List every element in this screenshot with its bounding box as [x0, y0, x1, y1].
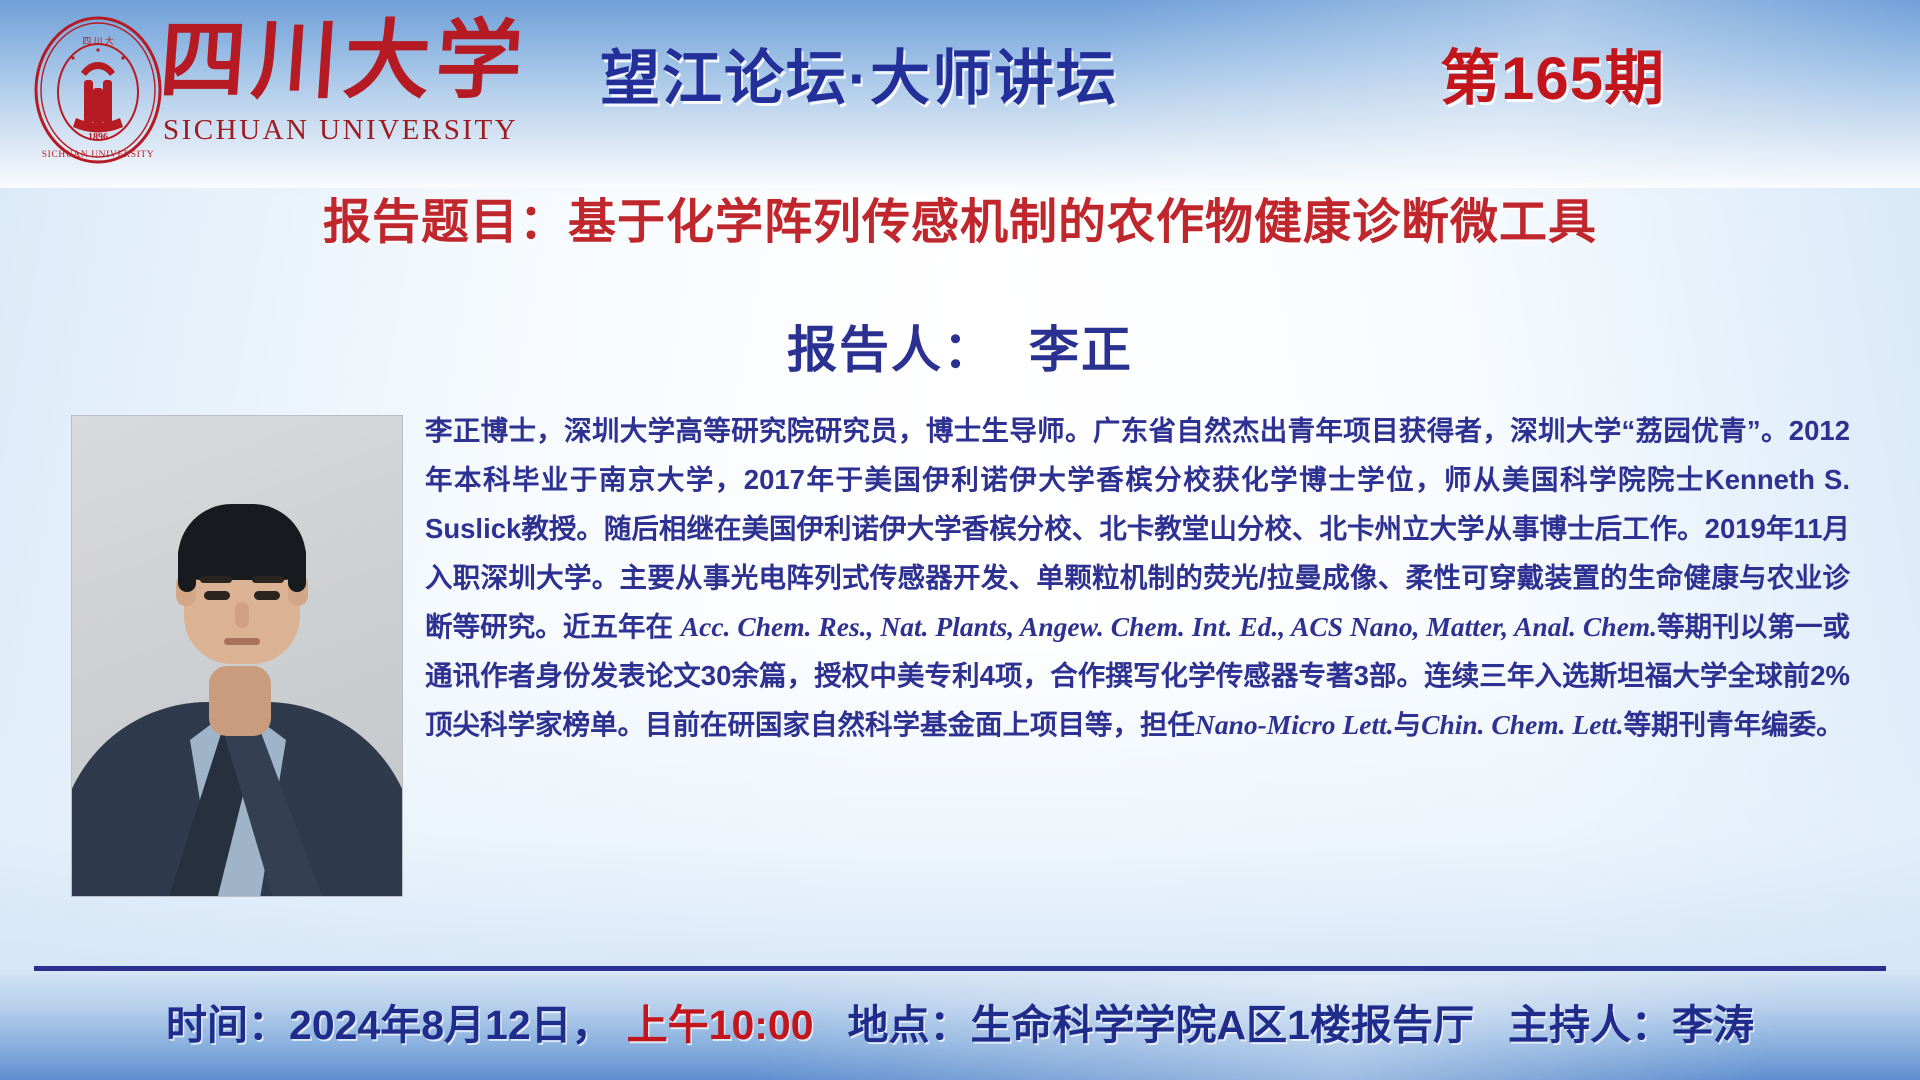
university-name-cn: 四川大学 [157, 18, 531, 104]
sichuan-university-seal-icon: 四 川 大 1896 SICHUAN UNIVERSITY [18, 14, 178, 166]
portrait-nose [235, 602, 249, 628]
host-name: 李涛 [1672, 1002, 1754, 1048]
bio-journals-1: Acc. Chem. Res., Nat. Plants, Angew. Che… [681, 611, 1657, 642]
issue-number: 第165期 [1440, 30, 1665, 117]
portrait-eyebrow-right [252, 576, 284, 583]
university-name-en: SICHUAN UNIVERSITY [163, 114, 518, 147]
portrait-hair-side-right [288, 544, 306, 592]
portrait-neck [209, 666, 271, 736]
bio-journals-2: Nano-Micro Lett. [1195, 709, 1394, 740]
talk-title: 报告题目：基于化学阵列传感机制的农作物健康诊断微工具 [0, 182, 1920, 252]
event-time: 上午10:00 [627, 1002, 814, 1048]
bio-journals-3: Chin. Chem. Lett. [1421, 709, 1623, 740]
footer-info: 时间：2024年8月12日，上午10:00地点：生命科学学院A区1楼报告厅主持人… [0, 991, 1920, 1051]
portrait-eyebrow-left [200, 576, 232, 583]
portrait-eye-left [204, 591, 230, 600]
poster-root: 四 川 大 1896 SICHUAN UNIVERSITY 四川大学 SICHU… [0, 0, 1920, 1080]
portrait-mouth [224, 638, 260, 645]
host-label: 主持人： [1508, 1002, 1672, 1048]
bio-part-4: 等期刊青年编委。 [1624, 709, 1844, 740]
speaker-line: 报告人：李正 [0, 310, 1920, 382]
footer-divider [34, 966, 1886, 971]
speaker-photo [72, 416, 402, 896]
portrait-hair-side-left [178, 544, 196, 592]
event-date: 2024年8月12日， [289, 1002, 613, 1048]
speaker-biography: 李正博士，深圳大学高等研究院研究员，博士生导师。广东省自然杰出青年项目获得者，深… [425, 406, 1850, 749]
place-label: 地点： [848, 1002, 971, 1048]
time-label: 时间： [166, 1002, 289, 1048]
bio-part-3: 与 [1394, 709, 1422, 740]
svg-text:四 川 大: 四 川 大 [82, 35, 114, 46]
svg-text:SICHUAN UNIVERSITY: SICHUAN UNIVERSITY [42, 150, 154, 160]
event-place: 生命科学学院A区1楼报告厅 [971, 1002, 1474, 1048]
forum-title: 望江论坛·大师讲坛 [600, 30, 1118, 117]
portrait-eye-right [254, 591, 280, 600]
bio-part-1: 李正博士，深圳大学高等研究院研究员，博士生导师。广东省自然杰出青年项目获得者，深… [425, 415, 1850, 642]
speaker-name: 李正 [1029, 322, 1133, 378]
speaker-label: 报告人： [787, 322, 995, 378]
svg-text:1896: 1896 [88, 132, 108, 143]
